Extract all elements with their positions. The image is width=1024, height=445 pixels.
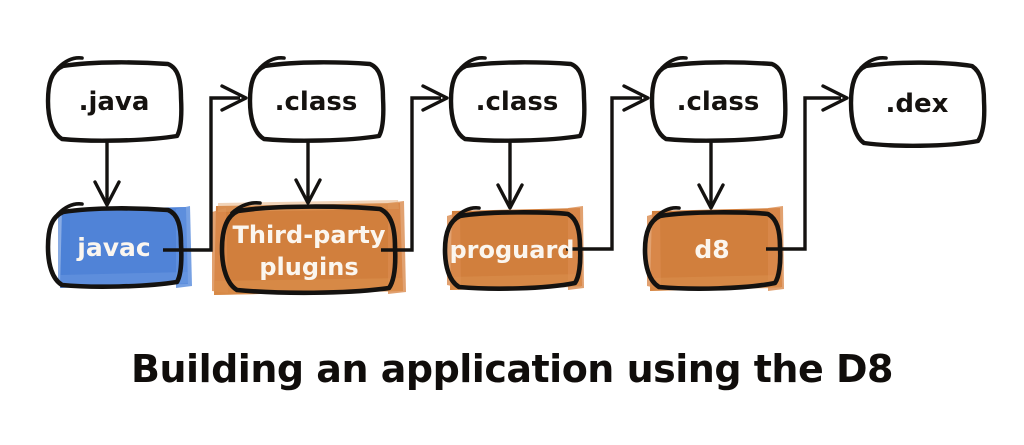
connector-class2-to-proguard — [498, 141, 522, 208]
node-class-2[interactable]: .class — [451, 58, 584, 141]
artifact-node-layer: .java .class .class .class — [48, 58, 984, 146]
node-dex[interactable]: .dex — [851, 58, 984, 146]
node-class-3[interactable]: .class — [652, 58, 785, 141]
connector-java-to-javac — [95, 141, 119, 205]
node-d8-label: d8 — [694, 235, 729, 264]
node-dex-label: .dex — [886, 89, 949, 119]
node-java-label: .java — [79, 87, 150, 117]
caption: Building an application using the D8 — [131, 347, 893, 391]
node-class-1[interactable]: .class — [250, 58, 383, 141]
flow-diagram: .java .class .class .class — [0, 0, 1024, 445]
node-class-2-label: .class — [476, 87, 559, 117]
node-javac-label: javac — [76, 233, 150, 262]
node-class-3-label: .class — [677, 87, 760, 117]
diagram-canvas: .java .class .class .class — [0, 0, 1024, 445]
node-java[interactable]: .java — [48, 58, 181, 141]
node-proguard-label: proguard — [450, 236, 575, 264]
node-thirdparty-label-line1: Third-party — [233, 221, 386, 249]
caption-label: Building an application using the D8 — [131, 347, 893, 391]
node-thirdparty-label-line2: plugins — [259, 253, 358, 281]
connector-class3-to-d8 — [699, 141, 723, 208]
connector-class1-to-thirdparty — [296, 141, 320, 203]
node-class-1-label: .class — [275, 87, 358, 117]
